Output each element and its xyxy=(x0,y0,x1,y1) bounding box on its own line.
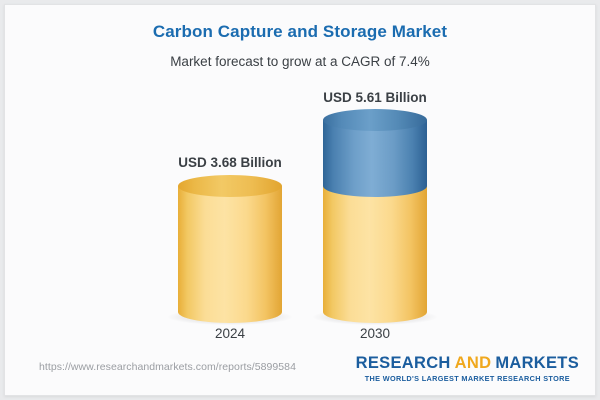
bar-group-2030: USD 5.61 Billion 2030 xyxy=(295,5,455,345)
logo-word-research: RESEARCH xyxy=(356,354,451,372)
source-url-link[interactable]: https://www.researchandmarkets.com/repor… xyxy=(39,361,296,373)
bar-chart-plot: USD 3.68 Billion 2024 USD 5.61 Billion xyxy=(5,5,597,345)
logo-tagline: THE WORLD'S LARGEST MARKET RESEARCH STOR… xyxy=(356,374,579,384)
bar-value-label-2030: USD 5.61 Billion xyxy=(295,90,455,105)
chart-footer: https://www.researchandmarkets.com/repor… xyxy=(5,343,597,395)
logo-word-and: AND xyxy=(455,354,492,372)
bar-segment-2024-base[interactable] xyxy=(178,186,282,312)
bar-value-label-2024: USD 3.68 Billion xyxy=(150,155,310,170)
bar-category-label-2030: 2030 xyxy=(295,326,455,341)
cylinder-body xyxy=(323,186,427,312)
logo-word-markets: MARKETS xyxy=(495,354,579,372)
bar-group-2024: USD 3.68 Billion 2024 xyxy=(150,5,310,345)
logo-wordmark: RESEARCHANDMARKETS xyxy=(356,354,579,372)
research-and-markets-logo[interactable]: RESEARCHANDMARKETS THE WORLD'S LARGEST M… xyxy=(356,354,579,384)
bar-cylinder-2030[interactable] xyxy=(323,120,427,312)
cylinder-top-cap xyxy=(178,175,282,197)
chart-card: Carbon Capture and Storage Market Market… xyxy=(4,4,596,396)
cylinder-body xyxy=(178,186,282,312)
bar-segment-2030-base[interactable] xyxy=(323,186,427,312)
bar-category-label-2024: 2024 xyxy=(150,326,310,341)
bar-segment-2030-growth[interactable] xyxy=(323,120,427,186)
bar-cylinder-2024[interactable] xyxy=(178,186,282,312)
cylinder-top-cap xyxy=(323,109,427,131)
